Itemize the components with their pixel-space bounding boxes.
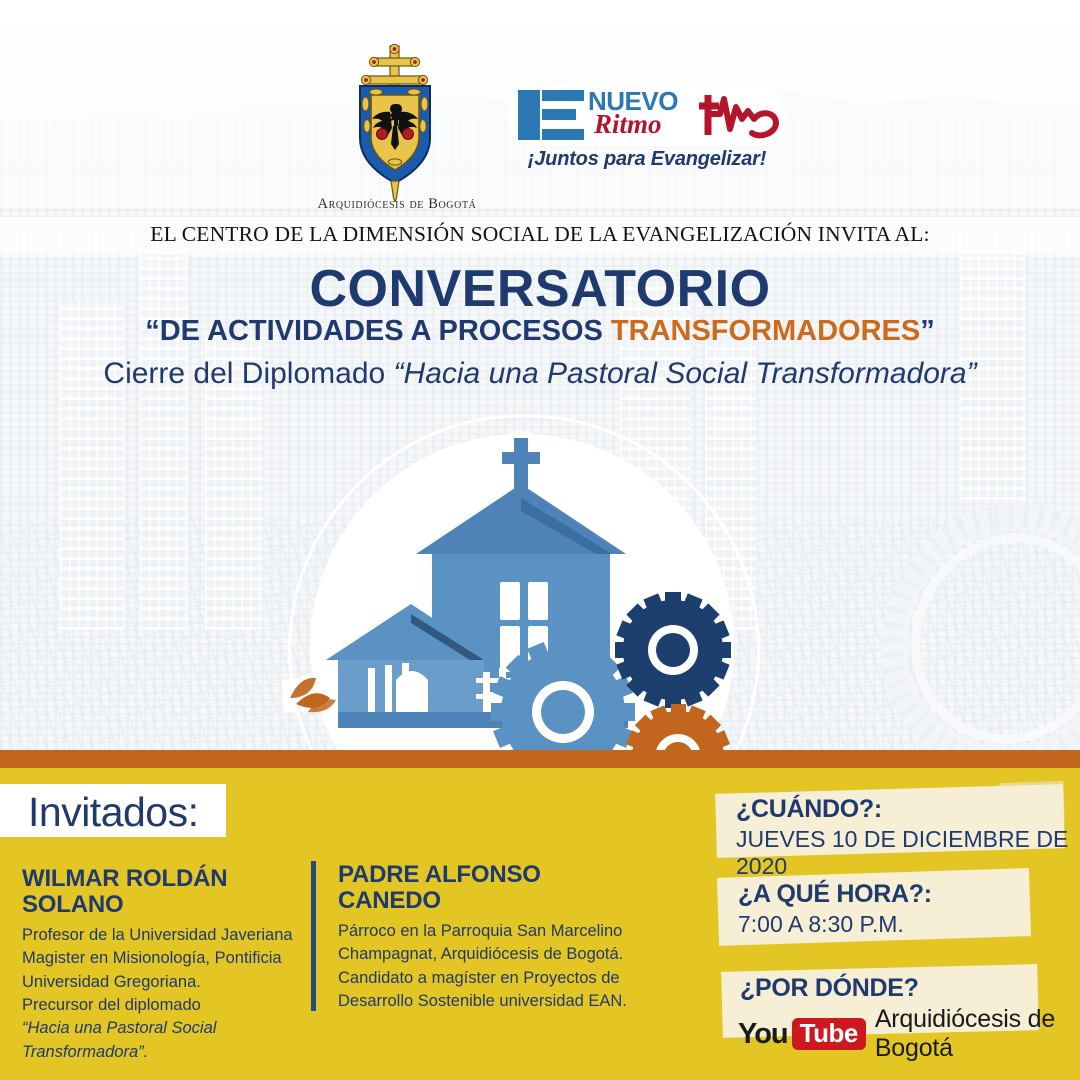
info-answer: 7:00 A 8:30 P.M. xyxy=(738,911,932,939)
guest-desc-line: Magister en Misionología, Pontificia xyxy=(22,949,282,967)
guests-heading: Invitados: xyxy=(28,789,199,836)
youtube-tube-text: Tube xyxy=(792,1018,866,1051)
closing-line: Cierre del Diplomado “Hacia una Pastoral… xyxy=(0,357,1080,390)
youtube-logo-icon[interactable]: You Tube xyxy=(738,1018,866,1051)
info-where: ¿POR DÓNDE? xyxy=(740,974,919,1003)
ritmo-label: Ritmo xyxy=(594,111,662,138)
plan-label: PLAN xyxy=(520,92,536,138)
guest-desc-line: Precursor del diplomado xyxy=(22,996,201,1014)
guest-description: Párroco en la Parroquia San Marcelino Ch… xyxy=(338,920,638,1014)
guest-desc-line: Párroco en la Parroquia San Marcelino xyxy=(338,922,622,940)
closing-italic: “Hacia una Pastoral Social Transformador… xyxy=(394,357,977,390)
guest-desc-line: Champagnat, Arquidiócesis de Bogotá. xyxy=(338,945,623,963)
guest-card-1: WILMAR ROLDÁN SOLANO Profesor de la Univ… xyxy=(22,866,297,1064)
plan-nuevo-ritmo-logo: PLAN NUEVO Ritmo xyxy=(508,84,786,146)
youtube-channel-row[interactable]: You Tube Arquidiócesis de Bogotá xyxy=(738,1005,1080,1063)
guest-card-2: PADRE ALFONSO CANEDO Párroco en la Parro… xyxy=(338,862,638,1013)
guest-description: Profesor de la Universidad Javeriana Mag… xyxy=(22,924,297,1065)
subtitle-part-1: “DE ACTIVIDADES A PROCESOS xyxy=(145,315,611,347)
youtube-channel-name: Arquidiócesis de Bogotá xyxy=(875,1005,1080,1063)
coat-of-arms-label: Arquidiócesis de Bogotá xyxy=(282,196,512,213)
subtitle-quoted: “DE ACTIVIDADES A PROCESOS TRANSFORMADOR… xyxy=(0,316,1080,348)
subtitle-part-2: ” xyxy=(920,315,935,347)
main-title: CONVERSATORIO xyxy=(0,262,1080,317)
church-illustration-svg xyxy=(278,412,778,802)
poster: Arquidiócesis de Bogotá PLAN NUEVO Ritmo… xyxy=(0,0,1080,1080)
info-time: ¿A QUÉ HORA?: 7:00 A 8:30 P.M. xyxy=(738,880,932,938)
guest-name: PADRE ALFONSO CANEDO xyxy=(338,862,638,915)
kicker-text: EL CENTRO DE LA DIMENSIÓN SOCIAL DE LA E… xyxy=(0,222,1080,247)
info-when: ¿CUÁNDO?: JUEVES 10 DE DICIEMBRE DE 2020 xyxy=(736,795,1080,881)
youtube-you-text: You xyxy=(738,1020,788,1049)
orange-divider-band xyxy=(0,750,1080,768)
guests-divider xyxy=(311,861,316,1011)
closing-prefix: Cierre del Diplomado xyxy=(103,357,393,390)
info-question: ¿POR DÓNDE? xyxy=(740,974,919,1003)
logo-tagline: ¡Juntos para Evangelizar! xyxy=(508,148,786,171)
guest-desc-line: Candidato a magíster en Proyectos de xyxy=(338,969,620,987)
guest-desc-line: Universidad Gregoriana. xyxy=(22,973,201,991)
info-question: ¿A QUÉ HORA?: xyxy=(738,880,932,909)
gear-navy xyxy=(615,592,731,708)
guest-name: WILMAR ROLDÁN SOLANO xyxy=(22,866,297,919)
info-answer: JUEVES 10 DE DICIEMBRE DE 2020 xyxy=(736,826,1080,881)
guest-desc-line: Profesor de la Universidad Javeriana xyxy=(22,926,293,944)
guest-desc-line: Desarrollo Sostenible universidad EAN. xyxy=(338,992,627,1010)
archdiocese-coat-of-arms-icon xyxy=(338,42,452,202)
guest-desc-italic: “Hacia una Pastoral Social Transformador… xyxy=(22,1019,216,1060)
church-gears-illustration xyxy=(278,412,778,802)
heartbeat-cross-heart-icon xyxy=(694,89,780,141)
info-question: ¿CUÁNDO?: xyxy=(736,795,1080,824)
subtitle-highlight: TRANSFORMADORES xyxy=(611,315,920,347)
